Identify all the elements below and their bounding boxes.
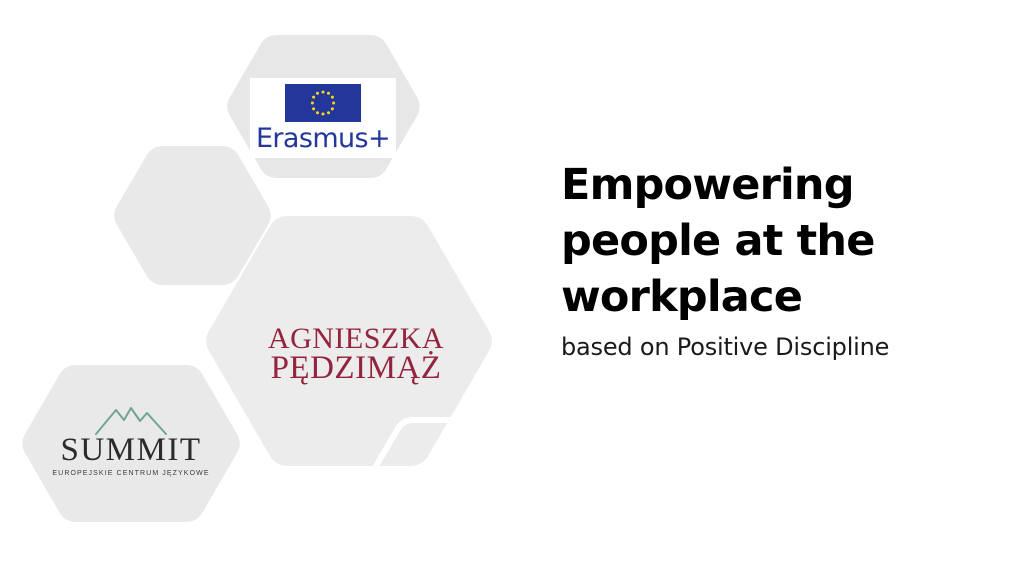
speaker-first-name: AGNIESZKA [256, 325, 456, 353]
headline-line-2: people at the [561, 216, 875, 266]
headline-line-3: workplace [561, 272, 802, 322]
speaker-last-name: PĘDZIMĄŻ [256, 353, 456, 383]
mountain-icon [48, 400, 214, 436]
erasmus-wordmark: Erasmus+ [256, 125, 390, 152]
blank-hexagon [114, 146, 271, 285]
title-block: Empowering people at the workplace based… [561, 158, 991, 363]
eu-flag-icon [285, 84, 361, 122]
slide-canvas: Erasmus+ AGNIESZKA PĘDZIMĄŻ SUMMIT EUROP… [0, 0, 1024, 576]
speaker-name-logo: AGNIESZKA PĘDZIMĄŻ [256, 325, 456, 383]
erasmus-plus-logo: Erasmus+ [250, 78, 396, 158]
outline-hexagon [370, 420, 540, 543]
page-title: Empowering people at the workplace [561, 158, 991, 326]
page-subtitle: based on Positive Discipline [561, 332, 991, 363]
summit-wordmark: SUMMIT [48, 434, 214, 467]
summit-logo: SUMMIT EUROPEJSKIE CENTRUM JĘZYKOWE [48, 400, 214, 477]
headline-line-1: Empowering [561, 160, 854, 210]
summit-tagline: EUROPEJSKIE CENTRUM JĘZYKOWE [48, 470, 214, 477]
